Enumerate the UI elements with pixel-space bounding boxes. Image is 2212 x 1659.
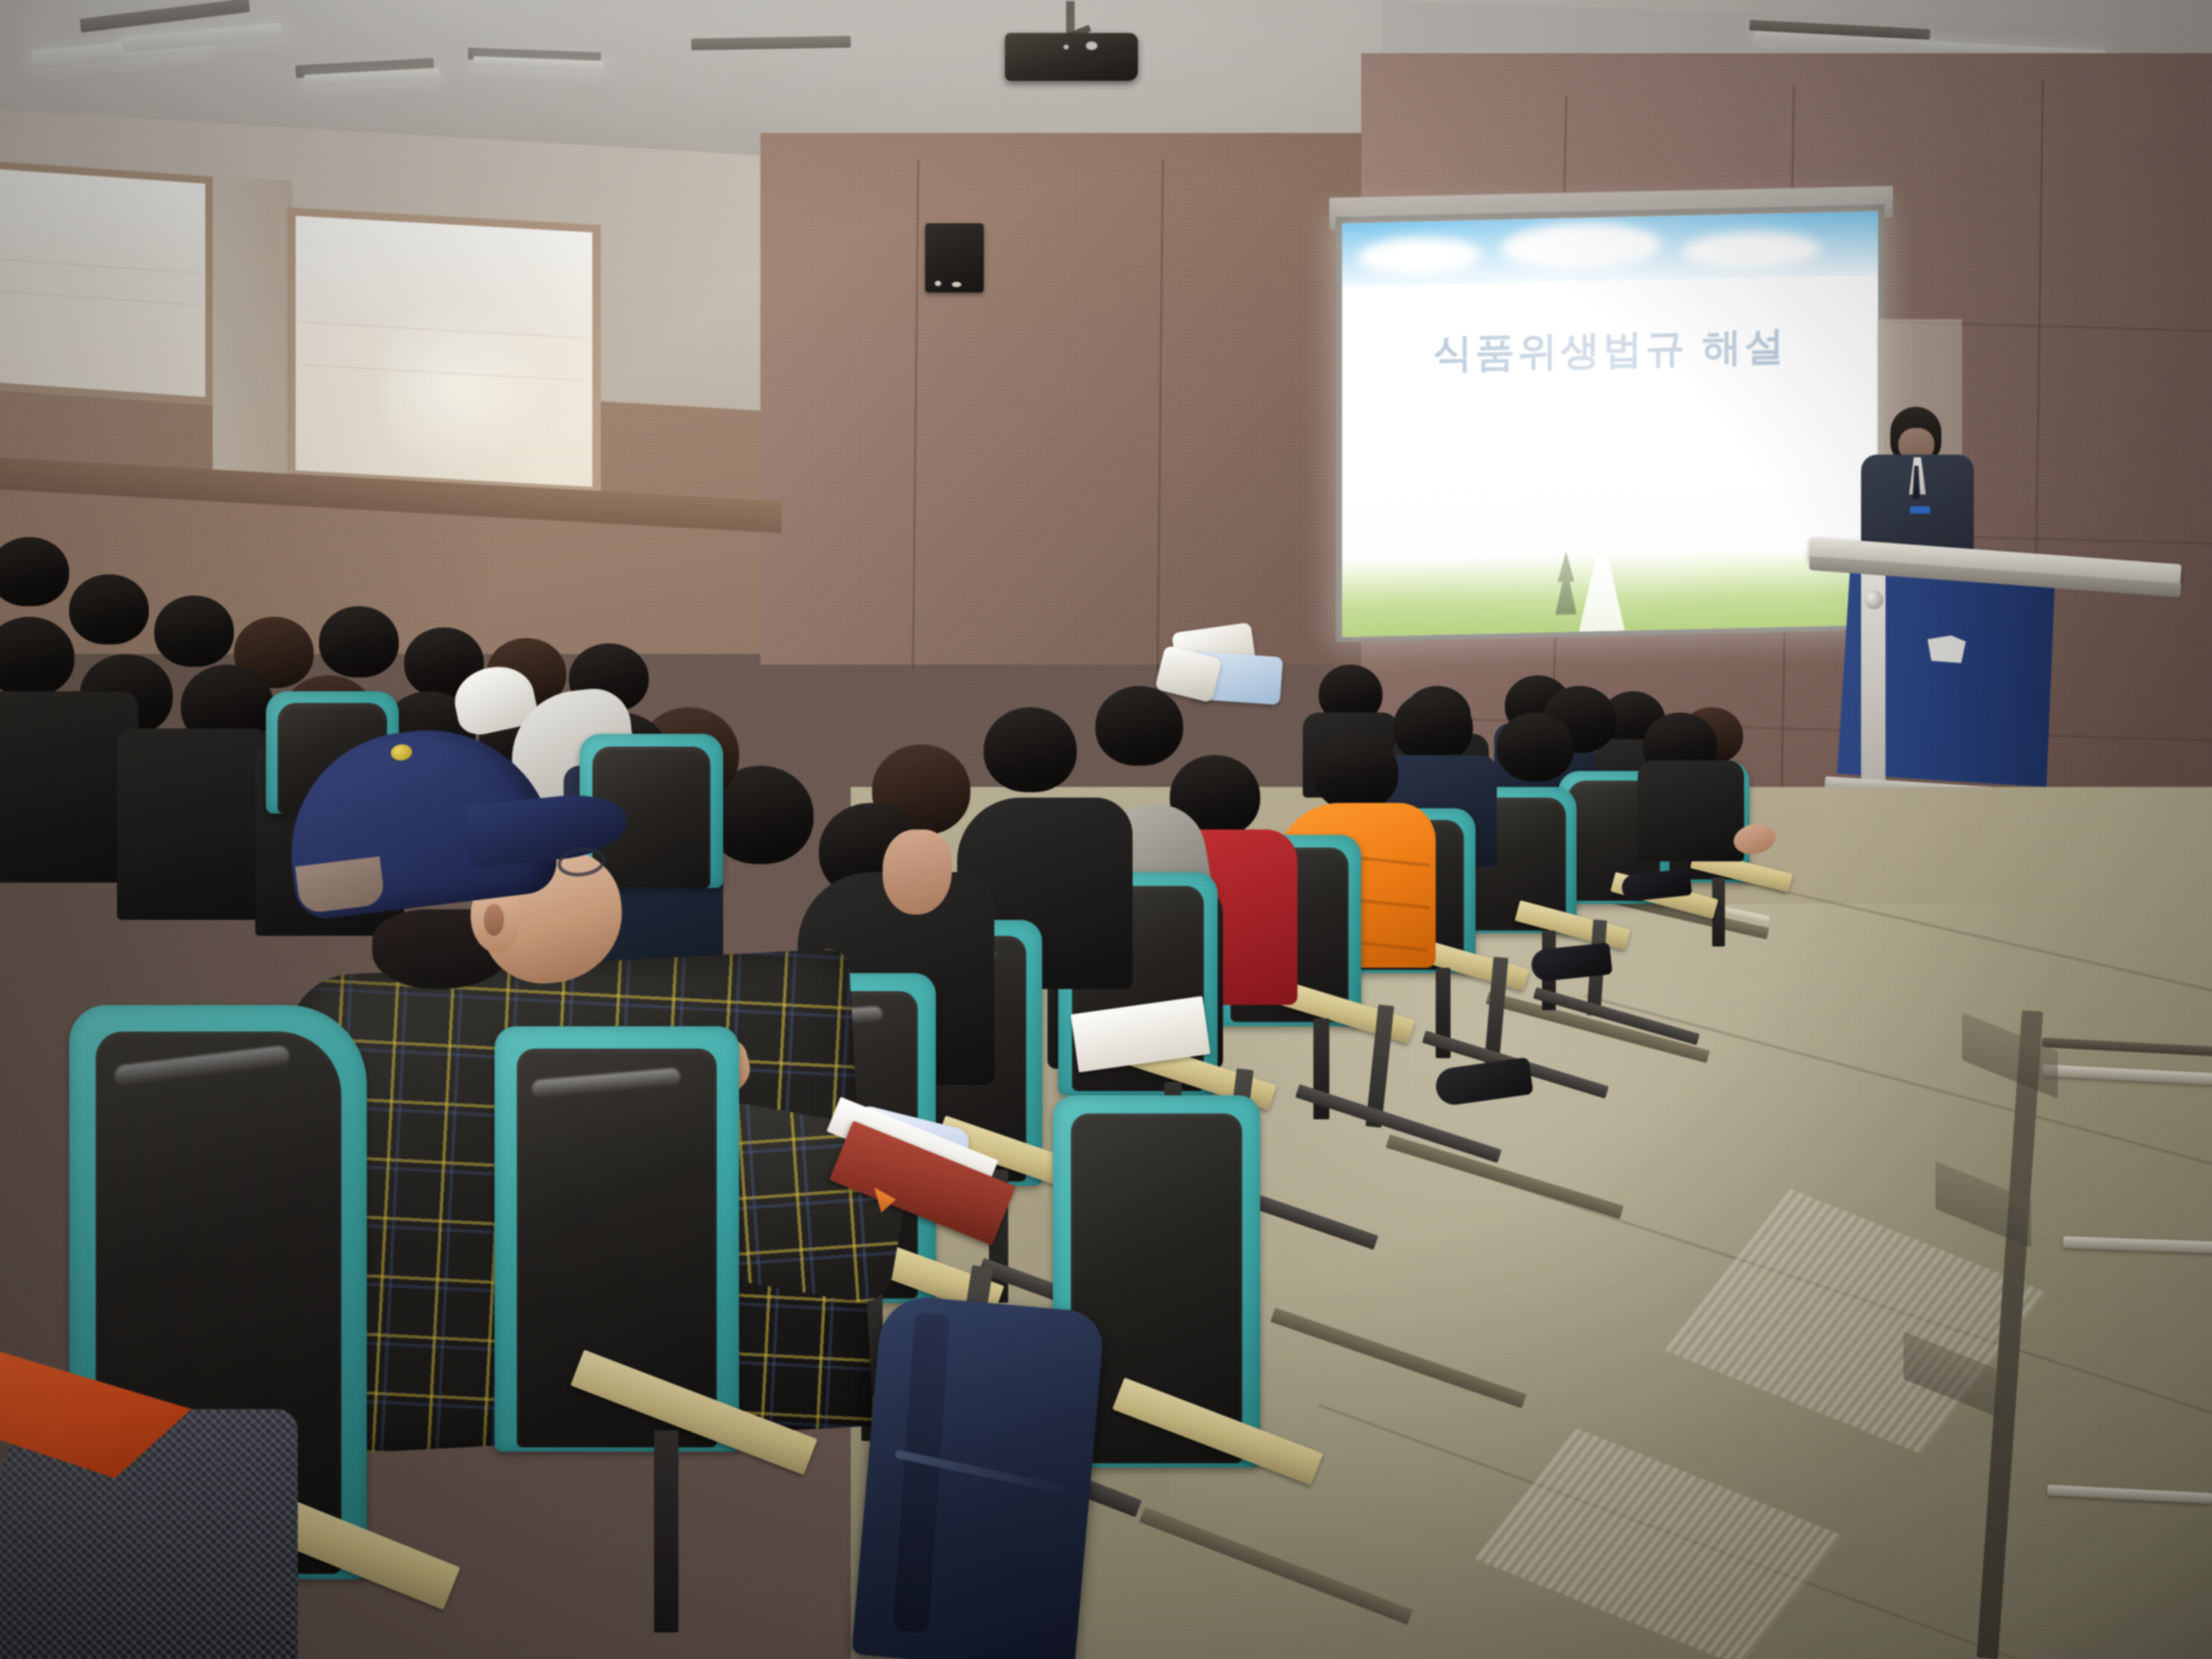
- audience-torso: [1638, 760, 1744, 861]
- slide-body: [1342, 275, 1878, 564]
- ceiling-projector-icon: [1005, 33, 1138, 81]
- window-mullion: [213, 175, 292, 478]
- audience-head: [154, 596, 234, 667]
- audience-head: [984, 707, 1077, 792]
- lectern-control-knob[interactable]: [1864, 590, 1883, 609]
- lecture-hall-photo: 식품위생법규 해설: [0, 0, 2212, 1659]
- foreground-person-ear-inner: [484, 904, 504, 936]
- projector-indicator-led: [1063, 45, 1069, 49]
- audience-head: [319, 606, 399, 677]
- audience-head: [1095, 686, 1183, 766]
- audience-head: [1393, 691, 1473, 763]
- audience-face: [883, 829, 952, 915]
- audience-torso: [117, 728, 271, 920]
- audience-head: [1497, 713, 1574, 782]
- projector-lens-icon: [1086, 41, 1097, 50]
- window-glare: [383, 298, 558, 468]
- audience-head: [1313, 734, 1398, 811]
- wood-panel-wall-center: [760, 133, 1398, 665]
- tablet-arm-post: [654, 1430, 678, 1632]
- window-roller-blind[interactable]: [0, 170, 205, 275]
- lectern-emblem: [1928, 635, 1966, 663]
- audience-head: [69, 574, 149, 644]
- speaker-led: [952, 282, 961, 287]
- speaker-led: [935, 281, 941, 286]
- projection-screen: 식품위생법규 해설: [1342, 211, 1878, 637]
- backpack[interactable]: [851, 1294, 1105, 1659]
- presenter-name-badge: [1910, 506, 1930, 514]
